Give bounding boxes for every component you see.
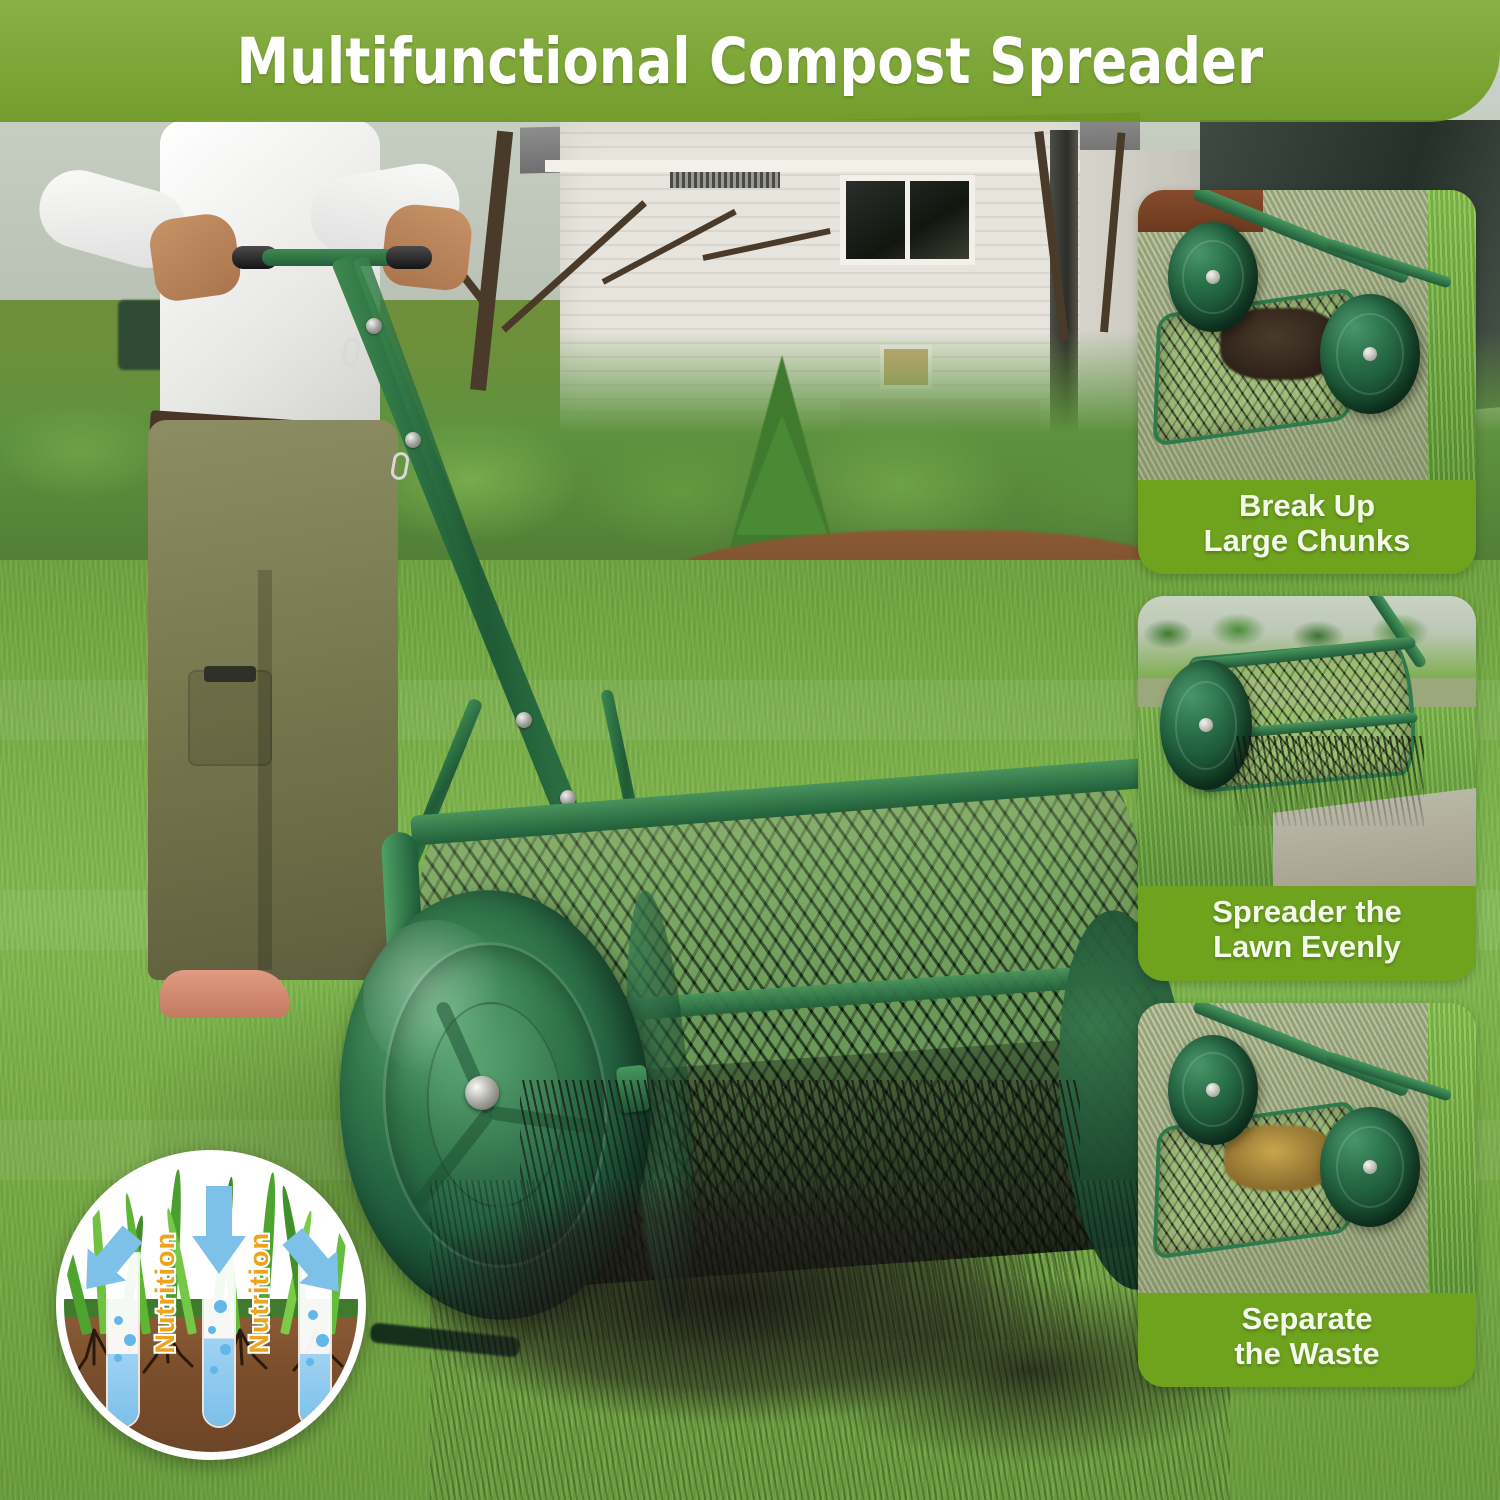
wheel-hub <box>1363 1160 1377 1174</box>
handle-shaft-secondary <box>352 255 586 862</box>
right-end-wheel <box>1320 294 1420 414</box>
panel-photo-separate-the-waste <box>1138 1003 1476 1293</box>
nutrient-bubble <box>306 1358 314 1366</box>
left-end-wheel <box>1168 1035 1258 1145</box>
grass-strip <box>1428 1003 1476 1293</box>
compost-spray <box>1234 736 1424 826</box>
feature-panel-separate-the-waste[interactable]: Separate the Waste <box>1138 1003 1476 1387</box>
frame-bolt <box>516 712 532 728</box>
caption-line-1: Separate <box>1146 1302 1468 1337</box>
retaining-clip <box>341 337 362 367</box>
nutrient-arrow-left-icon <box>64 1220 154 1310</box>
caption-line-1: Spreader the <box>1146 895 1468 930</box>
nutrient-bubble <box>124 1334 136 1346</box>
nutrient-bubble <box>316 1334 329 1347</box>
panel-photo-spreader-the-lawn-evenly <box>1138 596 1476 886</box>
wheel-hub <box>1363 347 1377 361</box>
nutrient-bubble <box>208 1326 216 1334</box>
frame-bolt <box>405 432 421 448</box>
panel-caption-separate-the-waste: Separate the Waste <box>1138 1293 1476 1387</box>
caption-line-2: the Waste <box>1146 1337 1468 1372</box>
left-end-wheel <box>1168 222 1258 332</box>
nutrient-bubble <box>114 1354 122 1362</box>
caption-line-2: Lawn Evenly <box>1146 930 1468 965</box>
title-banner: Multifunctional Compost Spreader <box>0 0 1500 122</box>
nutrient-bubble <box>114 1316 123 1325</box>
wheel-hub <box>1206 1083 1220 1097</box>
nutrition-label-left: Nutrition <box>150 1232 181 1353</box>
nutrient-bubble <box>220 1344 231 1355</box>
nutrient-arrow-right-icon <box>274 1220 364 1310</box>
caption-line-2: Large Chunks <box>1146 524 1468 559</box>
feature-panel-break-up-large-chunks[interactable]: Break Up Large Chunks <box>1138 190 1476 574</box>
wheel-hub <box>1206 270 1220 284</box>
nutrient-bubble <box>210 1366 218 1374</box>
nutrition-absorption-badge: Nutrition Nutrition <box>56 1150 366 1460</box>
frame-bolt <box>366 318 382 334</box>
nutrition-label-right: Nutrition <box>244 1232 275 1353</box>
nutrient-bubble <box>308 1310 318 1320</box>
panel-caption-break-up-large-chunks: Break Up Large Chunks <box>1138 480 1476 574</box>
panel-photo-break-up-large-chunks <box>1138 190 1476 480</box>
feature-panel-spreader-the-lawn-evenly[interactable]: Spreader the Lawn Evenly <box>1138 596 1476 980</box>
product-infographic: Multifunctional Compost Spreader <box>0 0 1500 1500</box>
handle-grip-right <box>386 246 432 269</box>
caption-line-1: Break Up <box>1146 489 1468 524</box>
page-title: Multifunctional Compost Spreader <box>237 30 1264 93</box>
waste-chunks-pile <box>1224 1125 1334 1191</box>
right-end-wheel <box>1320 1107 1420 1227</box>
grass-strip <box>1428 190 1476 480</box>
compost-on-lawn <box>430 1180 1230 1500</box>
panel-caption-spreader-the-lawn-evenly: Spreader the Lawn Evenly <box>1138 886 1476 980</box>
retaining-clip <box>390 451 411 481</box>
feature-panel-list: Break Up Large Chunks Spread <box>1138 190 1488 1409</box>
nutrient-bubble <box>214 1300 227 1313</box>
